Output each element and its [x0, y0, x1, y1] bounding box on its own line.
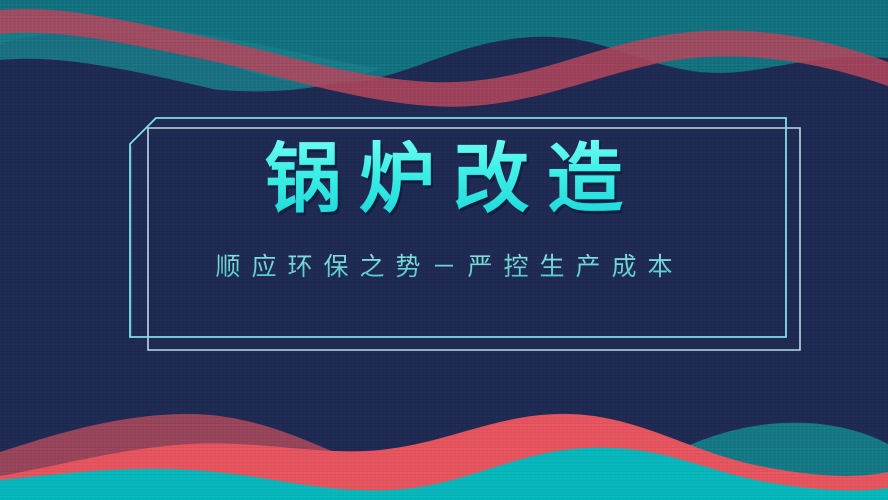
slide-canvas: 锅炉改造 顺应环保之势－严控生产成本	[0, 0, 888, 500]
page-subtitle: 顺应环保之势－严控生产成本	[0, 247, 888, 283]
title-block: 锅炉改造 顺应环保之势－严控生产成本	[0, 140, 888, 283]
page-title: 锅炉改造	[0, 140, 888, 221]
